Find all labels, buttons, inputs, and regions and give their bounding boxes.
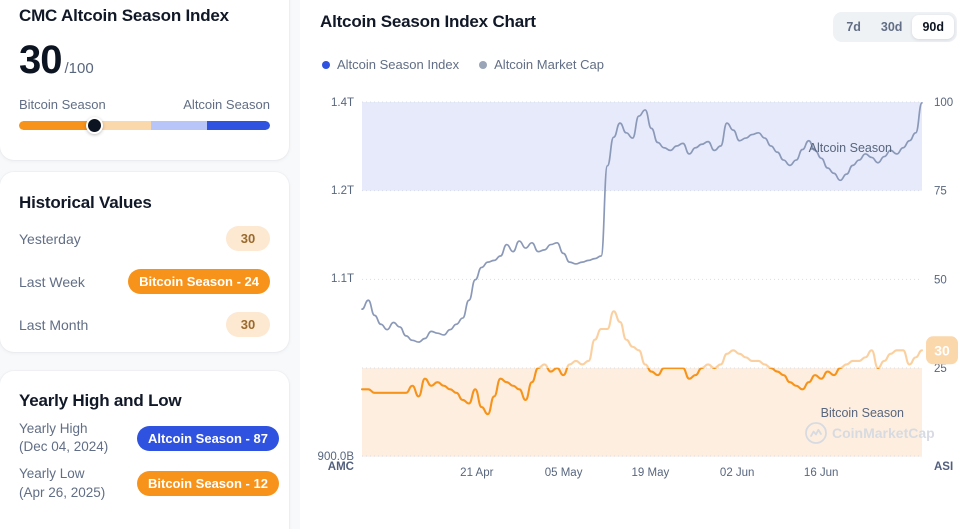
season-slider[interactable] bbox=[0, 121, 289, 130]
x-axis-tick: 19 May bbox=[632, 467, 670, 479]
historical-row-badge: 30 bbox=[226, 312, 270, 337]
yearly-row-badge: Altcoin Season - 87 bbox=[137, 426, 279, 451]
y-axis-right-name: ASI bbox=[934, 461, 953, 473]
yearly-high-low-card: Yearly High and Low Yearly High(Dec 04, … bbox=[0, 371, 289, 529]
y-axis-left-tick: 1.2T bbox=[331, 185, 354, 197]
legend-label: Altcoin Market Cap bbox=[494, 57, 604, 72]
slider-segment-altcoin-strong bbox=[207, 121, 270, 130]
legend-item[interactable]: Altcoin Season Index bbox=[322, 57, 459, 72]
chart-header: Altcoin Season Index Chart 7d30d90d bbox=[300, 0, 975, 42]
index-score-row: 30 /100 bbox=[0, 40, 289, 80]
historical-values-list: Yesterday30Last WeekBitcoin Season - 24L… bbox=[0, 221, 289, 342]
x-axis-tick: 02 Jun bbox=[720, 467, 755, 479]
x-axis-tick: 16 Jun bbox=[804, 467, 839, 479]
band-label-altcoin-season: Altcoin Season bbox=[809, 141, 892, 155]
y-axis-right-tick: 25 bbox=[934, 363, 947, 375]
index-score-max: /100 bbox=[65, 60, 94, 77]
yearly-row: Yearly Low(Apr 26, 2025)Bitcoin Season -… bbox=[0, 465, 289, 501]
chart-title: Altcoin Season Index Chart bbox=[320, 12, 536, 32]
legend-dot-icon bbox=[479, 61, 487, 69]
chart-panel: Altcoin Season Index Chart 7d30d90d Altc… bbox=[300, 0, 975, 529]
cmc-altcoin-season-index-card: CMC Altcoin Season Index 30 /100 Bitcoin… bbox=[0, 0, 289, 160]
range-button-7d[interactable]: 7d bbox=[836, 15, 871, 39]
historical-row-label: Yesterday bbox=[19, 231, 81, 247]
historical-values-title: Historical Values bbox=[0, 172, 289, 213]
legend-label: Altcoin Season Index bbox=[337, 57, 459, 72]
yearly-row-badge: Bitcoin Season - 12 bbox=[137, 471, 279, 496]
season-slider-knob[interactable] bbox=[86, 117, 103, 134]
season-range-labels: Bitcoin Season Altcoin Season bbox=[0, 97, 289, 112]
slider-segment-bitcoin-strong bbox=[19, 121, 94, 130]
range-button-30d[interactable]: 30d bbox=[871, 15, 913, 39]
yearly-high-low-title: Yearly High and Low bbox=[0, 371, 289, 411]
y-axis-right-tick: 100 bbox=[934, 97, 953, 109]
altcoin-season-index-page: CMC Altcoin Season Index 30 /100 Bitcoin… bbox=[0, 0, 975, 529]
time-range-selector[interactable]: 7d30d90d bbox=[833, 12, 957, 42]
y-axis-right-tick: 50 bbox=[934, 274, 947, 286]
y-axis-right-tick: 75 bbox=[934, 186, 947, 198]
yearly-row-date: (Dec 04, 2024) bbox=[19, 438, 137, 456]
yearly-row: Yearly High(Dec 04, 2024)Altcoin Season … bbox=[0, 420, 289, 456]
coinmarketcap-watermark-text: CoinMarketCap bbox=[832, 425, 935, 441]
y-axis-left-tick: 1.1T bbox=[331, 273, 354, 285]
band-label-bitcoin-season: Bitcoin Season bbox=[821, 406, 904, 420]
y-axis-left-name: AMC bbox=[328, 461, 354, 473]
legend-item[interactable]: Altcoin Market Cap bbox=[479, 57, 604, 72]
historical-row: Yesterday30 bbox=[0, 221, 289, 256]
legend-dot-icon bbox=[322, 61, 330, 69]
yearly-row-label: Yearly High(Dec 04, 2024) bbox=[19, 420, 137, 456]
altcoin-season-label: Altcoin Season bbox=[183, 97, 270, 112]
yearly-row-label-text: Yearly High bbox=[19, 421, 88, 436]
x-axis-tick: 21 Apr bbox=[460, 467, 493, 479]
yearly-row-date: (Apr 26, 2025) bbox=[19, 484, 137, 502]
historical-row-badge: 30 bbox=[226, 226, 270, 251]
yearly-high-low-list: Yearly High(Dec 04, 2024)Altcoin Season … bbox=[0, 420, 289, 502]
altcoin-season-index-chart-svg[interactable]: 1.4T1.2T1.1T900.0B100755025AMCASI21 Apr0… bbox=[300, 88, 975, 529]
current-value-badge-text: 30 bbox=[934, 342, 950, 358]
historical-row: Last WeekBitcoin Season - 24 bbox=[0, 264, 289, 299]
chart-legend: Altcoin Season IndexAltcoin Market Cap bbox=[300, 42, 975, 72]
range-button-90d[interactable]: 90d bbox=[912, 15, 954, 39]
chart-plot-area[interactable]: 1.4T1.2T1.1T900.0B100755025AMCASI21 Apr0… bbox=[300, 88, 975, 529]
yearly-row-label-text: Yearly Low bbox=[19, 466, 85, 481]
bitcoin-season-label: Bitcoin Season bbox=[19, 97, 106, 112]
historical-row-label: Last Month bbox=[19, 317, 88, 333]
x-axis-tick: 05 May bbox=[545, 467, 583, 479]
season-slider-track bbox=[19, 121, 270, 130]
sidebar: CMC Altcoin Season Index 30 /100 Bitcoin… bbox=[0, 0, 300, 529]
yearly-row-label: Yearly Low(Apr 26, 2025) bbox=[19, 465, 137, 501]
index-card-title: CMC Altcoin Season Index bbox=[0, 0, 289, 26]
historical-row-label: Last Week bbox=[19, 274, 85, 290]
index-score-value: 30 bbox=[19, 40, 62, 80]
historical-values-card: Historical Values Yesterday30Last WeekBi… bbox=[0, 172, 289, 352]
y-axis-left-tick: 1.4T bbox=[331, 97, 354, 109]
historical-row: Last Month30 bbox=[0, 307, 289, 342]
slider-segment-altcoin-weak bbox=[151, 121, 207, 130]
current-value-badge: 30 bbox=[926, 336, 958, 364]
historical-row-badge: Bitcoin Season - 24 bbox=[128, 269, 270, 294]
